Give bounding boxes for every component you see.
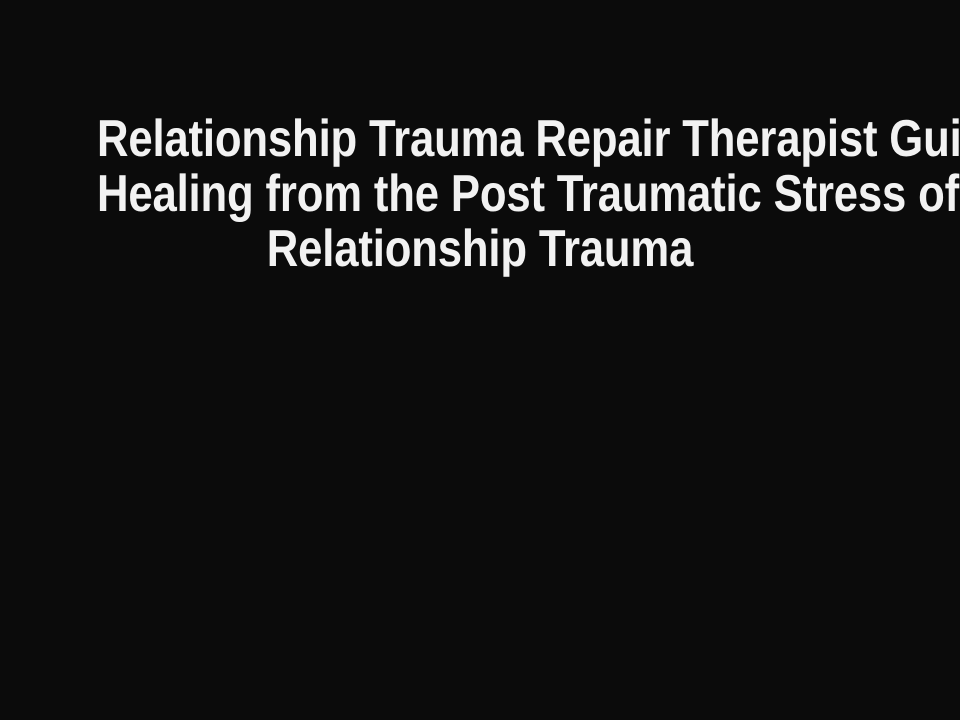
title-line-3: Relationship Trauma bbox=[97, 222, 863, 277]
title-line-1: Relationship Trauma Repair Therapist Gui… bbox=[97, 112, 863, 167]
cover-canvas: Relationship Trauma Repair Therapist Gui… bbox=[0, 0, 960, 720]
title-line-2: Healing from the Post Traumatic Stress o… bbox=[97, 167, 863, 222]
empty-background-field bbox=[0, 300, 960, 720]
page-title: Relationship Trauma Repair Therapist Gui… bbox=[0, 112, 960, 277]
